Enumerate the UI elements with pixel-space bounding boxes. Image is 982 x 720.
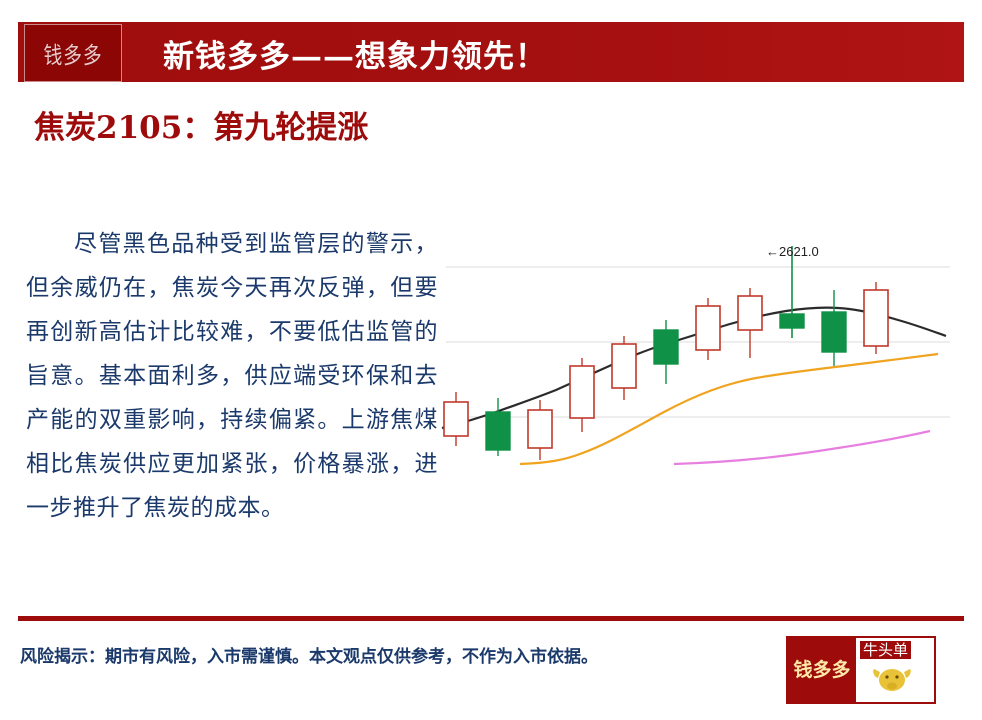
page-title: 焦炭2105：第九轮提涨 [34,103,434,153]
footer-divider [18,616,964,621]
header-logo: 钱多多 [24,24,122,82]
chart-annotation: ←2621.0 [766,244,819,259]
header-title: 新钱多多——想象力领先！ [163,31,547,76]
risk-disclaimer: 风险揭示：期市有风险，入市需谨慎。本文观点仅供参考，不作为入市依据。 [20,642,598,667]
footer-logo-badge: 牛头单 [856,638,934,702]
ma-long-line [674,431,930,464]
footer-logo-tag: 牛头单 [860,641,911,659]
candle-series [444,246,888,460]
body-paragraph: 尽管黑色品种受到监管层的警示，但余威仍在，焦炭今天再次反弹，但要再创新高估计比较… [26,222,438,530]
chart-svg [438,232,958,492]
footer-logo: 钱多多 牛头单 [786,636,936,704]
candlestick-chart [438,232,958,492]
bull-icon [870,662,914,694]
header-logo-text: 钱多多 [43,36,102,70]
footer-logo-text: 钱多多 [788,638,856,702]
